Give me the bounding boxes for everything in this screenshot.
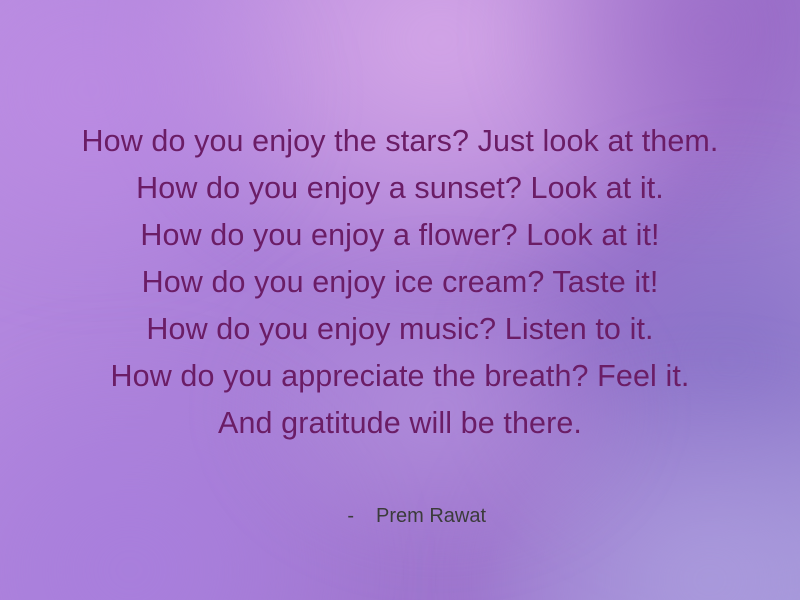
attribution-author: Prem Rawat xyxy=(376,503,486,529)
poem-line: And gratitude will be there. xyxy=(0,400,800,447)
poem-line: How do you enjoy music? Listen to it. xyxy=(0,306,800,353)
poem-body: How do you enjoy the stars? Just look at… xyxy=(0,118,800,447)
attribution: -Prem Rawat xyxy=(0,477,800,555)
poem-line: How do you appreciate the breath? Feel i… xyxy=(0,353,800,400)
quote-content: How do you enjoy the stars? Just look at… xyxy=(0,0,800,600)
quote-card: How do you enjoy the stars? Just look at… xyxy=(0,0,800,600)
poem-line: How do you enjoy a sunset? Look at it. xyxy=(0,165,800,212)
poem-line: How do you enjoy a flower? Look at it! xyxy=(0,212,800,259)
poem-line: How do you enjoy ice cream? Taste it! xyxy=(0,259,800,306)
attribution-dash: - xyxy=(347,503,354,529)
poem-line: How do you enjoy the stars? Just look at… xyxy=(0,118,800,165)
